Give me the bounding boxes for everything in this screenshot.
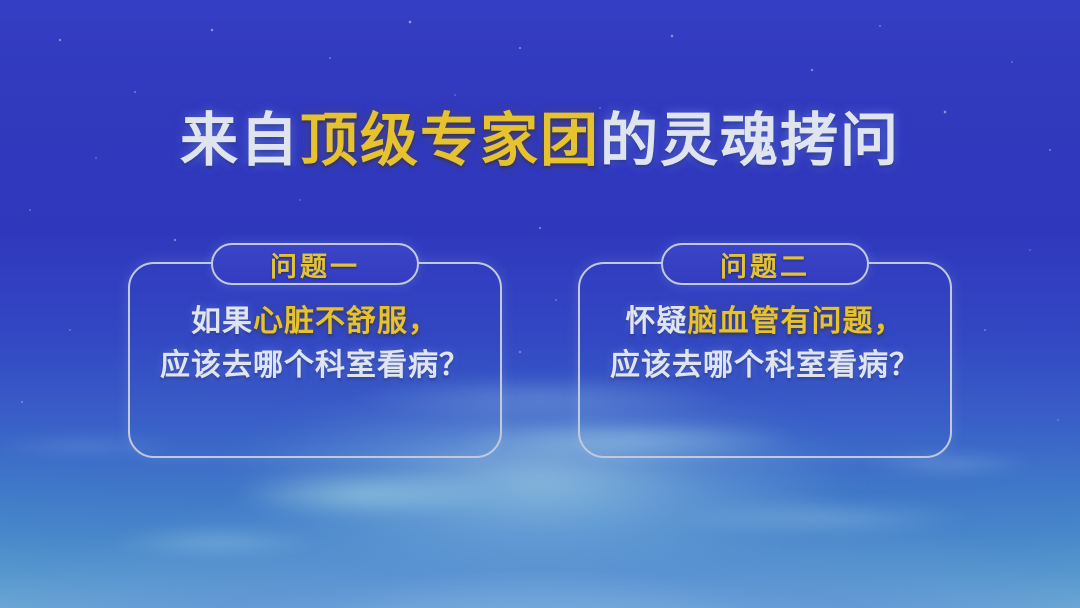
question-card-2[interactable]: 问题二 怀疑脑血管有问题， 应该去哪个科室看病？	[578, 262, 952, 458]
page-title-prefix: 来自	[180, 108, 300, 173]
question-line-1-prefix: 怀疑	[626, 305, 688, 338]
page-title-highlight: 顶级专家团	[300, 108, 600, 173]
question-text-1: 如果心脏不舒服， 应该去哪个科室看病？	[130, 300, 500, 389]
question-line-1: 怀疑脑血管有问题，	[580, 300, 950, 344]
status-badge: 问题一	[211, 243, 419, 285]
page-title-suffix: 的灵魂拷问	[600, 108, 900, 173]
question-line-1: 如果心脏不舒服，	[130, 300, 500, 344]
question-text-2: 怀疑脑血管有问题， 应该去哪个科室看病？	[580, 300, 950, 389]
page-title: 来自顶级专家团的灵魂拷问	[0, 112, 1080, 170]
question-line-1-prefix: 如果	[191, 305, 253, 338]
question-line-1-highlight: 脑血管有问题，	[688, 305, 905, 338]
question-badge-wrap-2: 问题二	[661, 243, 869, 285]
question-line-2: 应该去哪个科室看病？	[130, 344, 500, 388]
question-line-2-prefix: 应该去哪个科室看病？	[610, 349, 920, 382]
status-badge: 问题二	[661, 243, 869, 285]
question-line-1-highlight: 心脏不舒服，	[253, 305, 439, 338]
question-line-2: 应该去哪个科室看病？	[580, 344, 950, 388]
question-line-2-prefix: 应该去哪个科室看病？	[160, 349, 470, 382]
question-badge-wrap-1: 问题一	[211, 243, 419, 285]
slide-canvas: 来自顶级专家团的灵魂拷问 问题一 如果心脏不舒服， 应该去哪个科室看病？ 问题二…	[0, 0, 1080, 608]
question-card-1[interactable]: 问题一 如果心脏不舒服， 应该去哪个科室看病？	[128, 262, 502, 458]
